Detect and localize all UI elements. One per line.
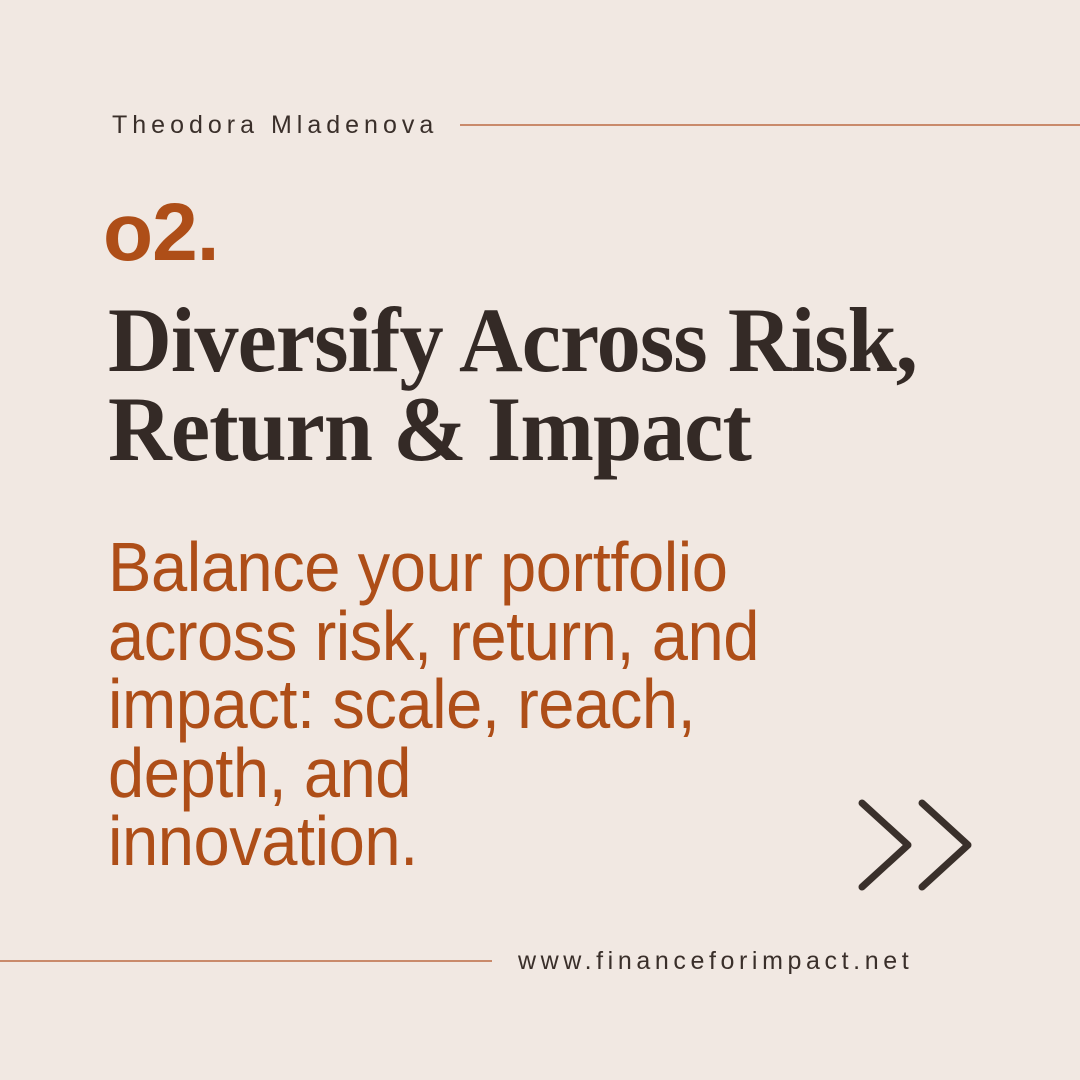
body-copy: Balance your portfolio across risk, retu… [108,533,843,876]
double-chevron-right-icon[interactable] [850,795,990,895]
headline: Diversify Across Risk, Return & Impact [108,296,972,474]
body-line-3: impact: scale, reach, [108,670,843,739]
author-name: Theodora Mladenova [112,113,438,138]
headline-line-1: Diversify Across Risk, [108,296,972,385]
website-url[interactable]: www.financeforimpact.net [518,949,913,974]
footer: www.financeforimpact.net [0,936,1080,986]
headline-line-2: Return & Impact [108,385,972,474]
body-line-5: innovation. [108,807,843,876]
slide-canvas: Theodora Mladenova o2. Diversify Across … [0,0,1080,1080]
body-line-2: across risk, return, and [108,602,843,671]
footer-divider-rule [0,960,492,962]
body-line-1: Balance your portfolio [108,533,843,602]
body-line-4: depth, and [108,739,843,808]
slide-number: o2. [103,192,218,274]
byline-divider-rule [460,124,1080,126]
byline: Theodora Mladenova [0,104,1080,146]
